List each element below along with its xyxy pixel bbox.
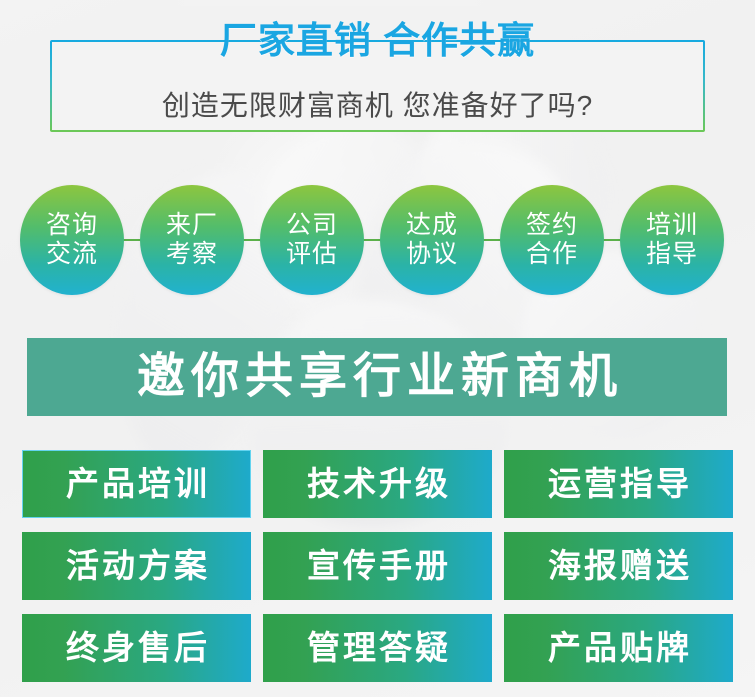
step-circle-consult[interactable]: 咨询 交流: [20, 185, 124, 295]
step-label-line1: 培训: [646, 211, 698, 240]
service-tile-label: 海报赠送: [545, 548, 692, 584]
step-label-line1: 来厂: [166, 211, 218, 240]
step-circle-sign[interactable]: 签约 合作: [500, 185, 604, 295]
service-tile-poster-gift[interactable]: 海报赠送: [504, 532, 733, 600]
step-label-line1: 咨询: [46, 211, 98, 240]
service-tile-label: 产品培训: [63, 466, 210, 502]
service-tile-event-plan[interactable]: 活动方案: [22, 532, 251, 600]
service-tile-tech-upgrade[interactable]: 技术升级: [263, 450, 492, 518]
step-label-line2: 评估: [286, 240, 338, 269]
promo-poster: 厂家直销 合作共赢 创造无限财富商机 您准备好了吗? 咨询 交流 来厂 考察 公…: [0, 0, 755, 697]
step-circle-visit[interactable]: 来厂 考察: [140, 185, 244, 295]
step-label-line2: 合作: [526, 240, 578, 269]
step-circle-agreement[interactable]: 达成 协议: [380, 185, 484, 295]
page-title: 厂家直销 合作共赢: [0, 21, 755, 61]
service-tile-lifetime-support[interactable]: 终身售后: [22, 614, 251, 682]
invitation-banner: 邀你共享行业新商机: [27, 338, 727, 416]
invitation-banner-text: 邀你共享行业新商机: [131, 351, 623, 403]
service-tile-management-qa[interactable]: 管理答疑: [263, 614, 492, 682]
service-tile-brochure[interactable]: 宣传手册: [263, 532, 492, 600]
step-label-line1: 签约: [526, 211, 578, 240]
step-label-line2: 指导: [646, 240, 698, 269]
step-circle-training[interactable]: 培训 指导: [620, 185, 724, 295]
step-label-line2: 协议: [406, 240, 458, 269]
step-label-line1: 达成: [406, 211, 458, 240]
service-tile-label: 终身售后: [63, 630, 210, 666]
service-tile-operations-guidance[interactable]: 运营指导: [504, 450, 733, 518]
service-tile-oem-branding[interactable]: 产品贴牌: [504, 614, 733, 682]
step-label-line1: 公司: [286, 211, 338, 240]
page-subtitle: 创造无限财富商机 您准备好了吗?: [0, 90, 755, 122]
step-label-line2: 考察: [166, 240, 218, 269]
step-circle-evaluate[interactable]: 公司 评估: [260, 185, 364, 295]
service-tile-label: 产品贴牌: [545, 630, 692, 666]
service-tile-product-training[interactable]: 产品培训: [22, 450, 251, 518]
header-section: 厂家直销 合作共赢 创造无限财富商机 您准备好了吗?: [0, 0, 755, 150]
step-label-line2: 交流: [46, 240, 98, 269]
service-grid: 产品培训 技术升级 运营指导 活动方案 宣传手册 海报赠送 终身售后 管理答疑 …: [22, 450, 733, 682]
process-steps: 咨询 交流 来厂 考察 公司 评估 达成 协议 签约 合作 培训 指导: [0, 185, 755, 295]
header-frame-top-gap: [155, 0, 505, 6]
service-tile-label: 运营指导: [545, 466, 692, 502]
service-tile-label: 宣传手册: [304, 548, 451, 584]
service-tile-label: 技术升级: [304, 466, 451, 502]
service-tile-label: 活动方案: [63, 548, 210, 584]
service-tile-label: 管理答疑: [304, 630, 451, 666]
